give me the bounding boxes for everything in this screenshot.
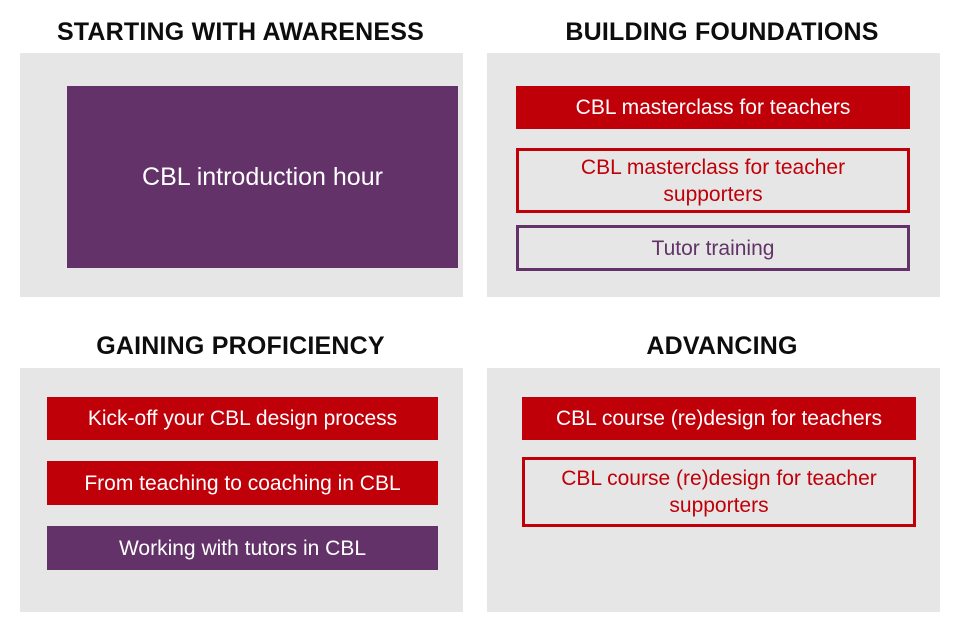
- quadrant-advancing: ADVANCING CBL course (re)design for teac…: [481, 314, 963, 628]
- stage-title-building-foundations: BUILDING FOUNDATIONS: [481, 17, 963, 47]
- course-card-cbl-masterclass-for-teacher-supporters[interactable]: CBL masterclass for teacher supporters: [516, 148, 910, 213]
- panel-advancing: CBL course (re)design for teachers CBL c…: [487, 368, 940, 612]
- quadrant-gaining-proficiency: GAINING PROFICIENCY Kick-off your CBL de…: [0, 314, 481, 628]
- quadrant-starting-with-awareness: STARTING WITH AWARENESS CBL introduction…: [0, 0, 481, 314]
- cbl-training-overview: STARTING WITH AWARENESS CBL introduction…: [0, 0, 963, 628]
- course-card-cbl-introduction-hour[interactable]: CBL introduction hour: [67, 86, 458, 268]
- course-card-cbl-course-redesign-for-teacher-supporters[interactable]: CBL course (re)design for teacher suppor…: [522, 457, 916, 527]
- course-card-tutor-training[interactable]: Tutor training: [516, 225, 910, 271]
- panel-gaining-proficiency: Kick-off your CBL design process From te…: [20, 368, 463, 612]
- course-card-working-with-tutors-in-cbl[interactable]: Working with tutors in CBL: [47, 526, 438, 570]
- course-card-from-teaching-to-coaching-in-cbl[interactable]: From teaching to coaching in CBL: [47, 461, 438, 505]
- panel-building-foundations: CBL masterclass for teachers CBL masterc…: [487, 53, 940, 297]
- stage-title-starting-with-awareness: STARTING WITH AWARENESS: [0, 17, 481, 47]
- panel-starting-with-awareness: CBL introduction hour: [20, 53, 463, 297]
- course-card-cbl-course-redesign-for-teachers[interactable]: CBL course (re)design for teachers: [522, 397, 916, 440]
- course-card-kick-off-your-cbl-design-process[interactable]: Kick-off your CBL design process: [47, 397, 438, 440]
- course-card-cbl-masterclass-for-teachers[interactable]: CBL masterclass for teachers: [516, 86, 910, 129]
- stage-title-advancing: ADVANCING: [481, 331, 963, 361]
- quadrant-building-foundations: BUILDING FOUNDATIONS CBL masterclass for…: [481, 0, 963, 314]
- stage-title-gaining-proficiency: GAINING PROFICIENCY: [0, 331, 481, 361]
